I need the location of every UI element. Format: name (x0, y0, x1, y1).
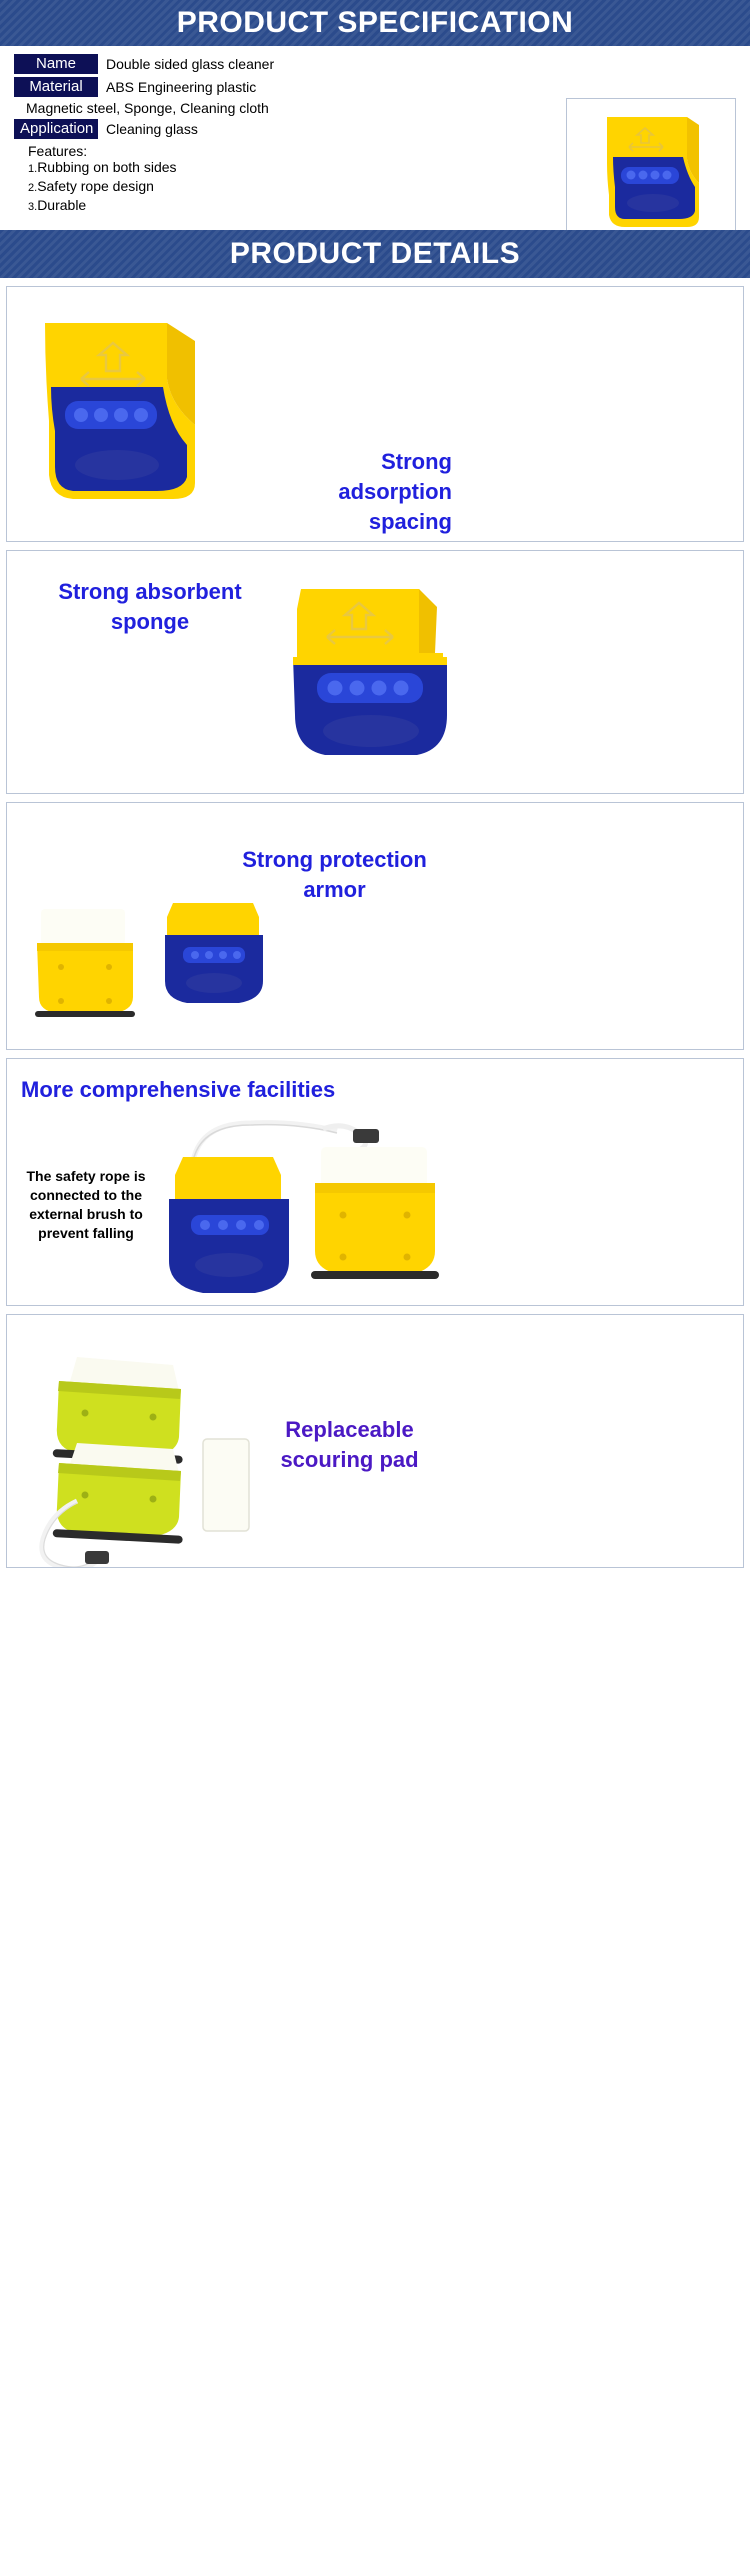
comprehensive-facilities-blue-device-image (157, 1147, 307, 1306)
glass-cleaner-thumbnail-image (567, 99, 736, 246)
spec-value-name: Double sided glass cleaner (106, 56, 274, 72)
adsorption-spacing-product-image (17, 301, 267, 531)
spec-row-name: Name Double sided glass cleaner (14, 54, 290, 74)
specification-product-photo (566, 98, 736, 246)
feature-item: 3.Durable (14, 197, 290, 216)
spec-label-material: Material (14, 77, 98, 97)
spec-label-application: Application (14, 119, 98, 139)
spec-label-name: Name (14, 54, 98, 74)
specification-section: Name Double sided glass cleaner Material… (0, 46, 750, 226)
product-details-title: PRODUCT DETAILS (230, 237, 520, 270)
feature-number: 2. (28, 182, 37, 194)
absorbent-sponge-product-image (267, 573, 477, 783)
panel-heading-replaceable-scouring-pad: Replaceable scouring pad (252, 1415, 447, 1475)
feature-item: 1.Rubbing on both sides (14, 159, 290, 178)
scouring-pad-cord-image (21, 1495, 201, 1568)
detail-panel-replaceable-scouring-pad: Replaceable scouring pad (6, 1314, 744, 1568)
comprehensive-facilities-yellow-device-image (297, 1139, 457, 1306)
spec-value-material: ABS Engineering plastic (106, 79, 256, 95)
spec-material-subline: Magnetic steel, Sponge, Cleaning cloth (14, 100, 290, 116)
panel-heading-comprehensive-facilities: More comprehensive facilities (21, 1075, 421, 1105)
product-details-banner: PRODUCT DETAILS (0, 230, 750, 278)
feature-text: Safety rope design (37, 178, 154, 194)
detail-panel-absorbent-sponge: Strong absorbent sponge (6, 550, 744, 794)
feature-text: Rubbing on both sides (37, 159, 176, 175)
specification-rows: Name Double sided glass cleaner Material… (0, 54, 290, 216)
product-page: PRODUCT SPECIFICATION Name Double sided … (0, 0, 750, 1568)
detail-panel-protection-armor: Strong protection armor (6, 802, 744, 1050)
protection-armor-blue-pad-image (155, 895, 275, 1035)
spare-scouring-pad-image (193, 1433, 263, 1543)
panel-heading-adsorption-spacing: Strong adsorption spacing (277, 447, 452, 537)
detail-panel-comprehensive-facilities: More comprehensive facilities The safety… (6, 1058, 744, 1306)
protection-armor-white-pad-image (27, 901, 147, 1041)
feature-number: 1. (28, 163, 37, 175)
panel-heading-absorbent-sponge: Strong absorbent sponge (25, 577, 275, 637)
spec-row-material: Material ABS Engineering plastic (14, 77, 290, 97)
feature-number: 3. (28, 201, 37, 213)
panel-caption-safety-rope: The safety rope is connected to the exte… (21, 1167, 151, 1243)
feature-item: 2.Safety rope design (14, 178, 290, 197)
features-title: Features: (14, 143, 290, 159)
detail-panel-adsorption-spacing: Strong adsorption spacing (6, 286, 744, 542)
product-specification-title: PRODUCT SPECIFICATION (177, 6, 574, 39)
spec-value-application: Cleaning glass (106, 121, 198, 137)
feature-text: Durable (37, 197, 86, 213)
product-specification-banner: PRODUCT SPECIFICATION (0, 0, 750, 46)
spec-row-application: Application Cleaning glass (14, 119, 290, 139)
